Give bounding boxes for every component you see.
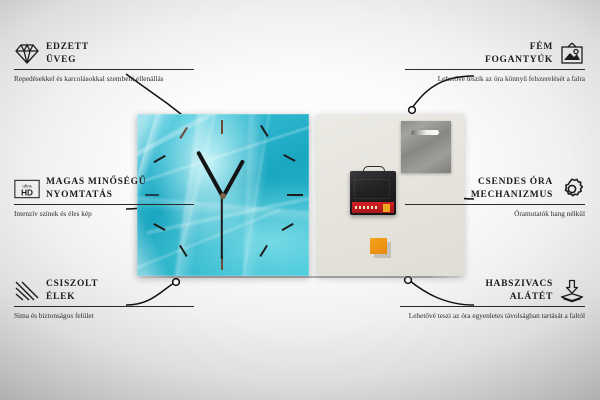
diamond-icon: [14, 42, 40, 66]
feature-title: HABSZIVACS ALÁTÉT: [400, 278, 553, 303]
ultra-hd-icon: ultra HD: [14, 177, 40, 201]
mechanism-seam: [354, 179, 390, 199]
feature-subtitle: Sima és biztonságos felület: [14, 311, 194, 321]
divider: [400, 306, 585, 307]
feature-title: EDZETT ÜVEG: [46, 41, 89, 66]
foam-pad-icon: [559, 279, 585, 303]
feature-title: CSISZOLT ÉLEK: [46, 278, 98, 303]
divider: [14, 306, 194, 307]
feature-title: FÉM FOGANTYÚK: [405, 41, 553, 66]
clock-tick: [287, 194, 303, 196]
hanger-slot: [411, 130, 439, 135]
feature-subtitle: Lehetővé teszi az óra egyenletes távolsá…: [400, 311, 585, 321]
clock-second-hand: [221, 196, 223, 258]
foam-pad: [370, 238, 387, 254]
metal-hanger-plate: [401, 121, 451, 173]
svg-text:HD: HD: [21, 188, 33, 197]
battery: [352, 202, 394, 213]
mechanism-loop: [363, 166, 385, 175]
feature-foam-pad[interactable]: HABSZIVACS ALÁTÉT Lehetővé teszi az óra …: [400, 278, 585, 320]
picture-hanger-icon: [559, 42, 585, 66]
polished-edges-icon: [14, 279, 40, 303]
feature-subtitle: Repedésekkel és karcolásokkal szembeni e…: [14, 74, 194, 84]
clock-mechanism: [350, 171, 396, 215]
divider: [405, 204, 585, 205]
gear-icon: [559, 177, 585, 201]
battery-stripe: [355, 206, 379, 209]
feature-high-quality-print[interactable]: ultra HD MAGAS MINŐSÉGŰ NYOMTATÁS Intenz…: [14, 176, 194, 218]
battery-terminal: [383, 204, 390, 212]
svg-text:ultra: ultra: [22, 183, 31, 188]
divider: [14, 69, 194, 70]
feature-subtitle: Óramutatók hang nélkül: [405, 209, 585, 219]
feature-polished-edges[interactable]: CSISZOLT ÉLEK Sima és biztonságos felüle…: [14, 278, 194, 320]
divider: [405, 69, 585, 70]
feature-tempered-glass[interactable]: EDZETT ÜVEG Repedésekkel és karcolásokka…: [14, 41, 194, 83]
clock-tick: [221, 120, 223, 134]
infographic-canvas: EDZETT ÜVEG Repedésekkel és karcolásokka…: [0, 0, 600, 400]
feature-subtitle: Intenzív színek és éles kép: [14, 209, 194, 219]
divider: [14, 204, 194, 205]
feature-title: MAGAS MINŐSÉGŰ NYOMTATÁS: [46, 176, 146, 201]
feature-subtitle: Lehetővé teszik az óra könnyű felszerelé…: [405, 74, 585, 84]
clock-center-cap: [220, 193, 226, 199]
feature-title: CSENDES ÓRA MECHANIZMUS: [405, 176, 553, 201]
feature-metal-handles[interactable]: FÉM FOGANTYÚK Lehetővé teszik az óra kön…: [405, 41, 585, 83]
connector-dot-metal-handles: [409, 107, 416, 114]
feature-silent-mechanism[interactable]: CSENDES ÓRA MECHANIZMUS Óramutatók hang …: [405, 176, 585, 218]
